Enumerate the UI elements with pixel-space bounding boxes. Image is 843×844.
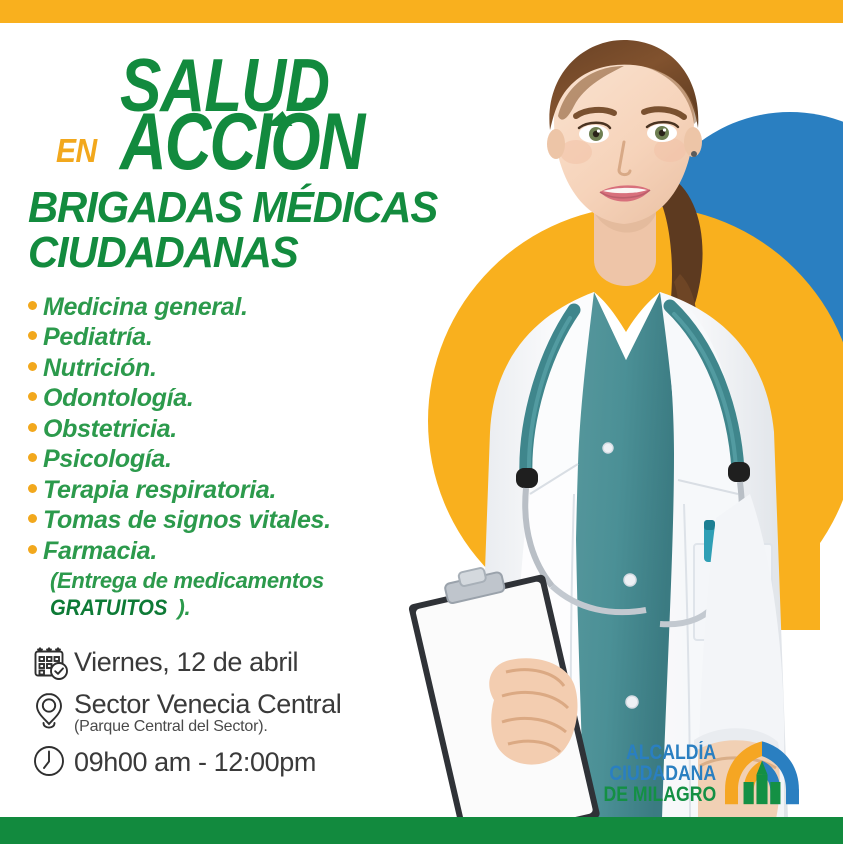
list-item: Terapia respiratoria. — [28, 475, 448, 506]
bullet-dot-icon — [28, 362, 37, 371]
bullet-dot-icon — [28, 514, 37, 523]
milagro-m-emblem — [723, 734, 801, 806]
service-label: Medicina general. — [43, 292, 248, 323]
bullet-dot-icon — [28, 331, 37, 340]
bullet-dot-icon — [28, 301, 37, 310]
service-label: Pediatría. — [43, 322, 153, 353]
list-item: Medicina general. — [28, 292, 448, 323]
service-label: Psicología. — [43, 444, 172, 475]
list-item: Odontología. — [28, 383, 448, 414]
list-item: Tomas de signos vitales. — [28, 505, 448, 536]
service-label: Odontología. — [43, 383, 194, 414]
list-item: Obstetricia. — [28, 414, 448, 445]
campaign-logotype: SALUD EN ACCIÓN — [28, 45, 458, 180]
service-label: Obstetricia. — [43, 414, 177, 445]
service-label: Terapia respiratoria. — [43, 475, 276, 506]
event-location: Sector Venecia Central — [74, 689, 341, 719]
detail-row-location: Sector Venecia Central (Parque Central d… — [28, 690, 448, 736]
top-accent-bar — [0, 0, 843, 23]
clock-icon — [28, 742, 74, 782]
event-time: 09h00 am - 12:00pm — [74, 748, 316, 777]
bottom-accent-bar — [0, 817, 843, 844]
event-location-sub: (Parque Central del Sector). — [74, 718, 341, 736]
pharmacy-note: (Entrega de medicamentos GRATUITOS). — [50, 568, 380, 621]
detail-row-date: Viernes, 12 de abril — [28, 643, 448, 683]
bullet-dot-icon — [28, 484, 37, 493]
service-label: Tomas de signos vitales. — [43, 505, 331, 536]
event-details: Viernes, 12 de abril Sector Venecia Cent… — [28, 643, 448, 782]
note-suffix: ). — [178, 595, 191, 620]
bullet-dot-icon — [28, 453, 37, 462]
poster-content: SALUD EN ACCIÓN BRIGADAS MÉDICAS CIUDADA… — [0, 23, 470, 817]
event-date: Viernes, 12 de abril — [74, 648, 298, 677]
page-title: BRIGADAS MÉDICAS CIUDADANAS — [28, 186, 465, 276]
calendar-check-icon — [28, 643, 74, 683]
bullet-dot-icon — [28, 545, 37, 554]
map-pin-icon — [28, 690, 74, 734]
logotype-en: EN — [56, 133, 97, 171]
list-item: Pediatría. — [28, 322, 448, 353]
note-prefix: (Entrega de medicamentos — [50, 568, 324, 593]
service-label: Nutrición. — [43, 353, 157, 384]
bullet-dot-icon — [28, 392, 37, 401]
service-label: Farmacia. — [43, 536, 157, 567]
gov-logo-wordmark: ALCALDÍA CIUDADANA DE MILAGRO — [582, 742, 716, 806]
gov-logo-line-3: DE MILAGRO — [603, 784, 716, 805]
note-highlight: GRATUITOS — [50, 595, 167, 621]
list-item: Farmacia. — [28, 536, 448, 567]
gov-logo: ALCALDÍA CIUDADANA DE MILAGRO — [582, 734, 801, 806]
services-list: Medicina general. Pediatría. Nutrición. … — [28, 292, 448, 567]
bullet-dot-icon — [28, 423, 37, 432]
logotype-accion: ACCIÓN — [120, 107, 363, 176]
location-block: Sector Venecia Central (Parque Central d… — [74, 690, 341, 736]
gov-logo-line-1: ALCALDÍA — [603, 742, 716, 763]
list-item: Psicología. — [28, 444, 448, 475]
list-item: Nutrición. — [28, 353, 448, 384]
detail-row-time: 09h00 am - 12:00pm — [28, 742, 448, 782]
gov-logo-line-2: CIUDADANA — [603, 763, 716, 784]
